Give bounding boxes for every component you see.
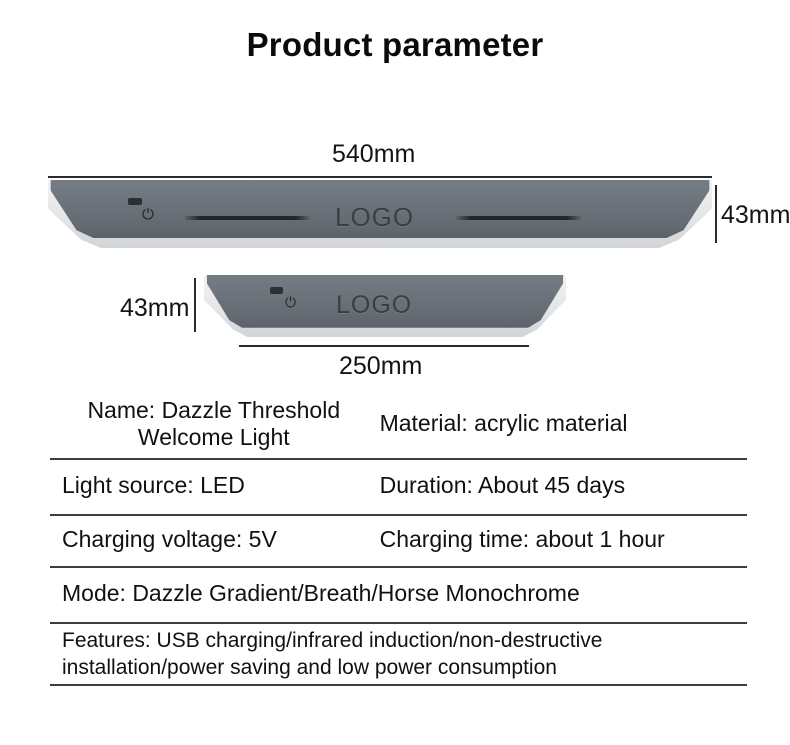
spec-cell-light-source: Light source: LED xyxy=(50,460,378,514)
table-row: Mode: Dazzle Gradient/Breath/Horse Monoc… xyxy=(50,568,747,624)
small-height-dimension-label: 43mm xyxy=(120,294,189,323)
light-slot-left xyxy=(185,216,310,220)
table-row: Features: USB charging/infrared inductio… xyxy=(50,624,747,686)
ir-sensor-icon xyxy=(128,198,142,205)
spec-cell-charging-time: Charging time: about 1 hour xyxy=(378,516,747,566)
large-height-dimension-line xyxy=(715,185,717,243)
spec-table: Name: Dazzle Threshold Welcome Light Mat… xyxy=(50,392,747,686)
spec-features-line2: installation/power saving and low power … xyxy=(62,655,745,682)
spec-cell-material: Material: acrylic material xyxy=(378,392,747,458)
table-row: Name: Dazzle Threshold Welcome Light Mat… xyxy=(50,392,747,460)
large-height-dimension-label: 43mm xyxy=(721,201,790,230)
large-width-dimension-line xyxy=(48,176,712,178)
power-icon: ⏻ xyxy=(142,207,154,222)
spec-cell-name: Name: Dazzle Threshold Welcome Light xyxy=(50,392,378,458)
spec-cell-duration: Duration: About 45 days xyxy=(378,460,747,514)
small-width-dimension-label: 250mm xyxy=(339,352,422,381)
spec-cell-mode: Mode: Dazzle Gradient/Breath/Horse Monoc… xyxy=(50,568,747,622)
large-product-logo-text: LOGO xyxy=(335,202,414,233)
spec-features-line1: Features: USB charging/infrared inductio… xyxy=(62,628,745,655)
small-product-body: ⏻ LOGO xyxy=(204,275,566,337)
large-width-dimension-label: 540mm xyxy=(332,140,415,169)
table-row: Light source: LED Duration: About 45 day… xyxy=(50,460,747,516)
large-product-body: ⏻ LOGO xyxy=(48,180,712,248)
spec-cell-charging-voltage: Charging voltage: 5V xyxy=(50,516,378,566)
table-row: Charging voltage: 5V Charging time: abou… xyxy=(50,516,747,568)
product-diagram: 540mm ⏻ LOGO 43mm 43mm ⏻ LOGO 250mm xyxy=(0,0,790,390)
spec-name-line2: Welcome Light xyxy=(87,424,340,451)
ir-sensor-icon xyxy=(270,287,283,294)
power-icon: ⏻ xyxy=(285,296,296,310)
spec-cell-features: Features: USB charging/infrared inductio… xyxy=(50,624,747,684)
small-product-logo-text: LOGO xyxy=(336,291,412,320)
spec-name-line1: Name: Dazzle Threshold xyxy=(87,397,340,424)
small-width-dimension-line xyxy=(239,345,529,347)
small-height-dimension-line xyxy=(194,278,196,332)
light-slot-right xyxy=(456,216,581,220)
